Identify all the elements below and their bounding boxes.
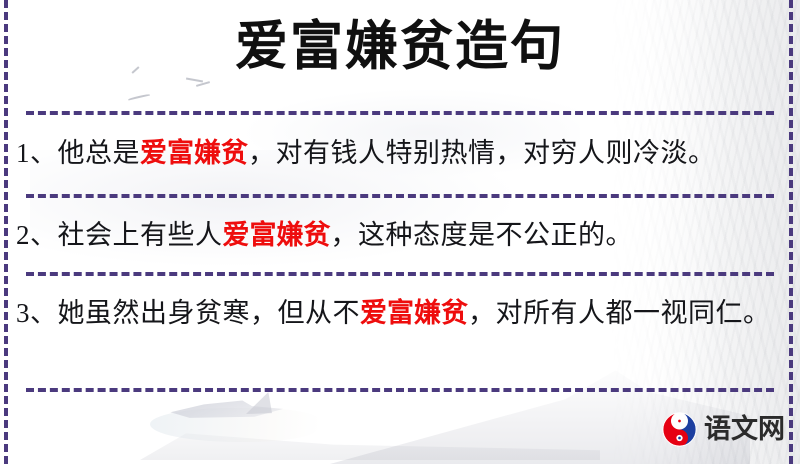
dashed-border-left bbox=[4, 0, 8, 464]
sentence-text-after-3: ，对所有人都一视同仁。 bbox=[468, 298, 771, 328]
taiji-yin-yang-icon bbox=[661, 411, 698, 448]
sentence-number-3: 3、 bbox=[16, 298, 58, 328]
dashed-divider-1 bbox=[26, 111, 774, 115]
sentence-text-after-2: ，这种态度是不公正的。 bbox=[331, 220, 634, 250]
site-logo-text: 语文网 bbox=[704, 416, 785, 443]
sentence-text-before-1: 他总是 bbox=[58, 138, 141, 168]
sentence-item-2: 2、社会上有些人爱富嫌贫，这种态度是不公正的。 bbox=[16, 213, 778, 258]
card-content: 爱富嫌贫造句 1、他总是爱富嫌贫，对有钱人特别热情，对穷人则冷淡。 2、社会上有… bbox=[0, 0, 800, 464]
dashed-divider-2 bbox=[26, 194, 774, 198]
sentence-text-after-1: ，对有钱人特别热情，对穷人则冷淡。 bbox=[248, 138, 716, 168]
sentence-text-before-3: 她虽然出身贫寒，但从不 bbox=[58, 298, 361, 328]
sentence-text-before-2: 社会上有些人 bbox=[58, 220, 223, 250]
dashed-border-right bbox=[789, 0, 793, 464]
keyword-highlight-3: 爱富嫌贫 bbox=[360, 298, 468, 329]
sentence-number-1: 1、 bbox=[16, 138, 58, 168]
keyword-highlight-2: 爱富嫌贫 bbox=[223, 220, 331, 251]
dashed-divider-3 bbox=[26, 272, 774, 276]
dashed-divider-4 bbox=[26, 388, 774, 392]
sentence-item-3: 3、她虽然出身贫寒，但从不爱富嫌贫，对所有人都一视同仁。 bbox=[16, 291, 778, 336]
keyword-highlight-1: 爱富嫌贫 bbox=[140, 138, 248, 169]
site-watermark-logo[interactable]: 语文网 bbox=[661, 411, 785, 448]
sentence-number-2: 2、 bbox=[16, 220, 58, 250]
sentence-item-1: 1、他总是爱富嫌贫，对有钱人特别热情，对穷人则冷淡。 bbox=[16, 131, 778, 176]
sentence-card-page: 爱富嫌贫造句 1、他总是爱富嫌贫，对有钱人特别热情，对穷人则冷淡。 2、社会上有… bbox=[0, 0, 800, 464]
page-title: 爱富嫌贫造句 bbox=[0, 17, 800, 76]
